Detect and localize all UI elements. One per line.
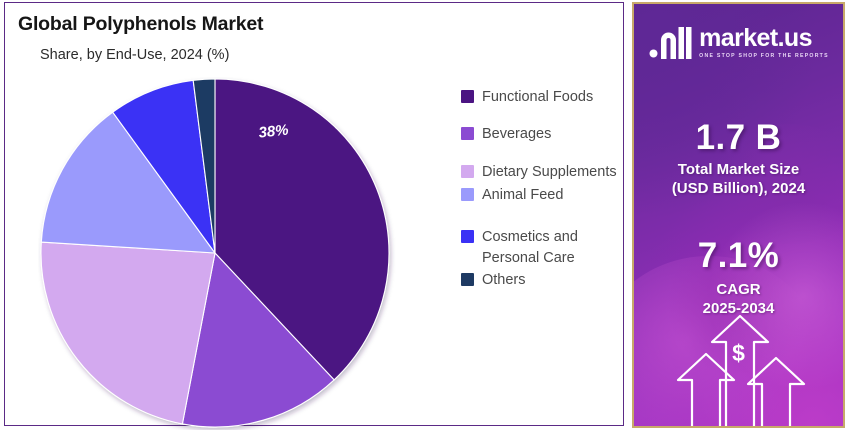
growth-arrows-icon	[634, 306, 843, 426]
brand-stats-panel: market.us ONE STOP SHOP FOR THE REPORTS …	[632, 2, 845, 428]
market-size-caption: Total Market Size (USD Billion), 2024	[634, 160, 843, 198]
pie-slice-label-functional-foods: 38%	[258, 122, 290, 142]
legend-swatch-icon	[461, 165, 474, 178]
legend-item-cosmetics-and-personal-care[interactable]: Cosmetics and Personal Care	[461, 227, 631, 268]
legend-item-beverages[interactable]: Beverages	[461, 124, 631, 145]
chart-subtitle: Share, by End-Use, 2024 (%)	[40, 47, 229, 63]
legend-item-label: Animal Feed	[482, 185, 563, 206]
legend-swatch-icon	[461, 230, 474, 243]
legend-item-others[interactable]: Others	[461, 270, 631, 291]
legend-item-functional-foods[interactable]: Functional Foods	[461, 87, 631, 108]
legend-swatch-icon	[461, 188, 474, 201]
legend-item-label: Dietary Supplements	[482, 162, 617, 183]
brand-tagline: ONE STOP SHOP FOR THE REPORTS	[699, 54, 829, 59]
pie-chart-svg: 38%	[38, 77, 398, 430]
legend-item-label: Functional Foods	[482, 87, 593, 108]
market-size-caption-line1: Total Market Size	[678, 161, 799, 178]
page-title: Global Polyphenols Market	[18, 13, 263, 36]
cagr-value: 7.1%	[634, 236, 843, 276]
pie-slices	[41, 79, 389, 427]
chart-panel: Global Polyphenols Market Share, by End-…	[4, 2, 624, 426]
market-us-logo-icon	[648, 26, 692, 60]
legend-swatch-icon	[461, 273, 474, 286]
legend-item-label: Cosmetics and Personal Care	[482, 227, 631, 268]
market-size-value: 1.7 B	[634, 118, 843, 158]
brand-logo[interactable]: market.us ONE STOP SHOP FOR THE REPORTS	[634, 26, 843, 60]
legend-item-label: Others	[482, 270, 526, 291]
market-size-caption-line2: (USD Billion), 2024	[672, 180, 805, 197]
legend-swatch-icon	[461, 90, 474, 103]
legend-swatch-icon	[461, 127, 474, 140]
cagr-caption-line1: CAGR	[716, 281, 760, 298]
brand-wordmark: market.us	[699, 26, 829, 51]
chart-legend: Functional Foods Beverages Dietary Suppl…	[461, 87, 631, 291]
brand-logo-text: market.us ONE STOP SHOP FOR THE REPORTS	[699, 26, 829, 59]
legend-item-label: Beverages	[482, 124, 551, 145]
pie-chart: 38%	[38, 77, 398, 430]
legend-item-dietary-supplements[interactable]: Dietary Supplements	[461, 162, 631, 183]
legend-item-animal-feed[interactable]: Animal Feed	[461, 185, 631, 206]
screenshot-root: Global Polyphenols Market Share, by End-…	[0, 0, 847, 430]
